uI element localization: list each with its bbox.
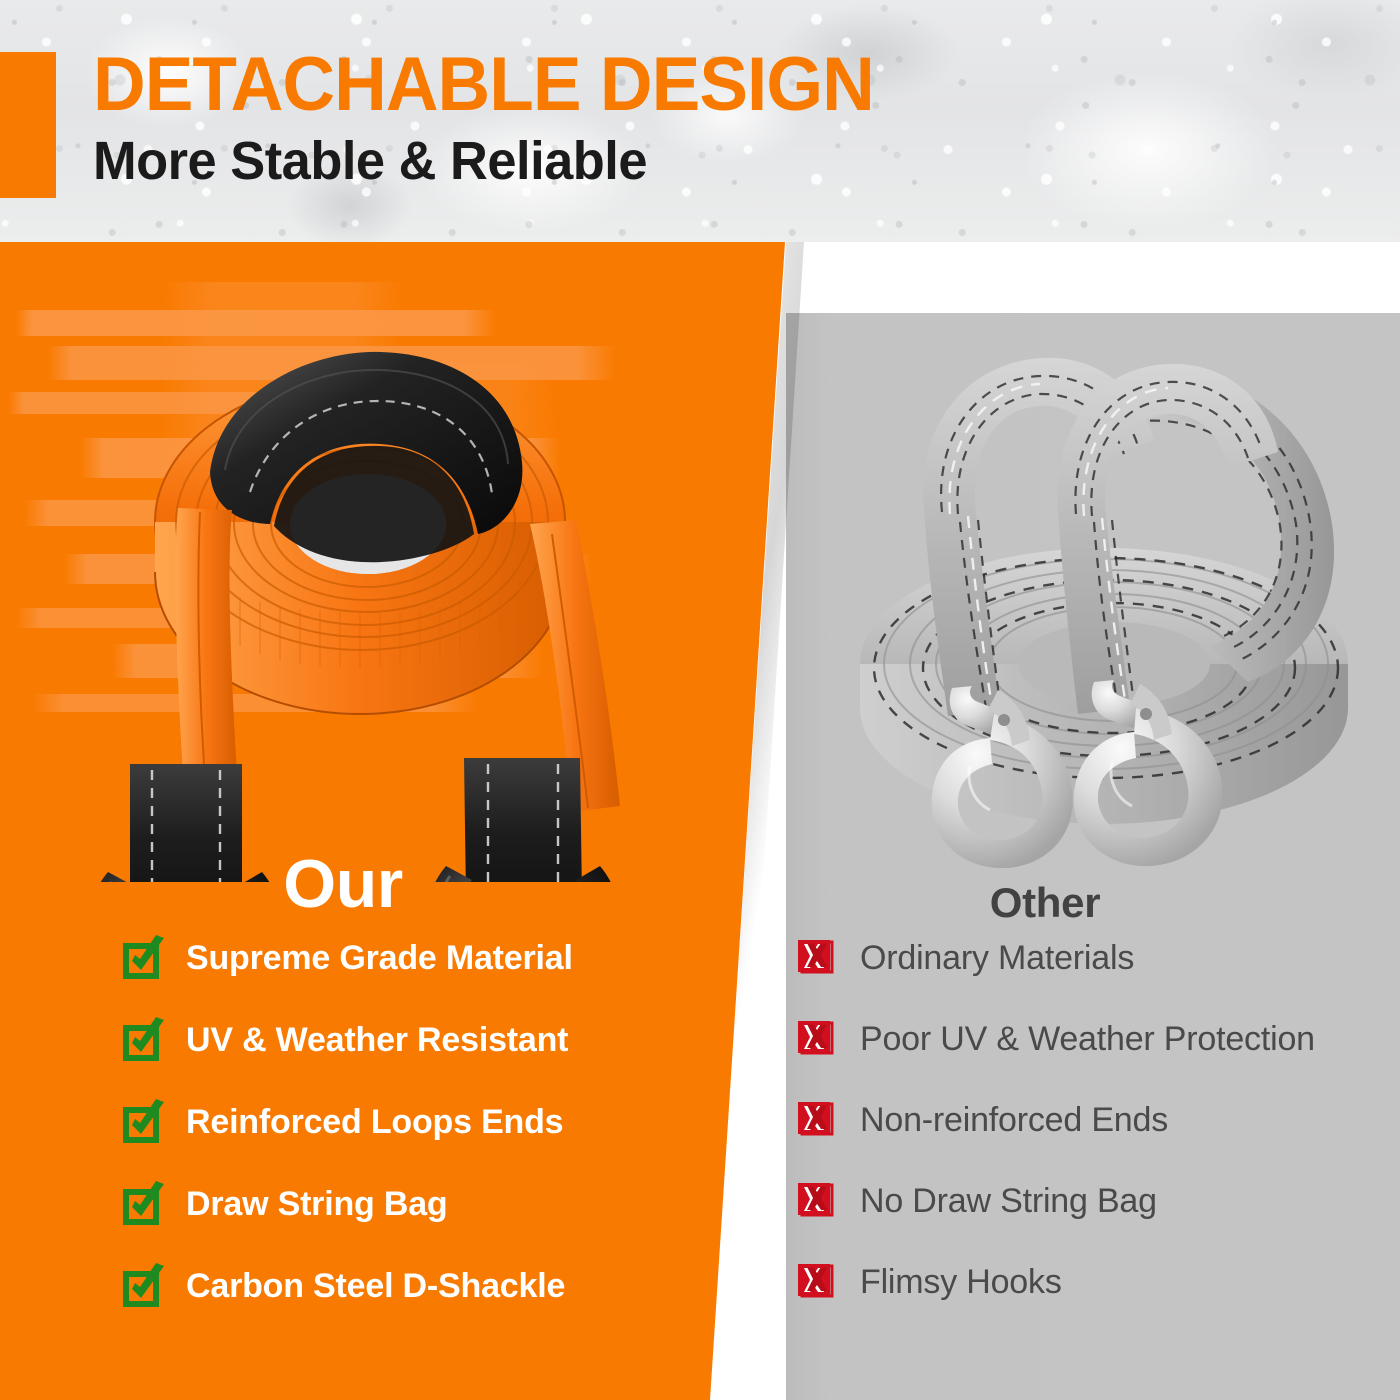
other-feature-list: Ordinary Materials Poor UV & Weather Pro… <box>796 938 1386 1343</box>
other-product-image <box>828 316 1380 868</box>
check-icon <box>124 940 160 976</box>
check-icon <box>124 1104 160 1140</box>
accent-bar <box>0 52 56 198</box>
list-item: No Draw String Bag <box>796 1181 1386 1221</box>
list-item-label: Poor UV & Weather Protection <box>860 1019 1315 1059</box>
list-item: Non-reinforced Ends <box>796 1100 1386 1140</box>
x-icon <box>796 1102 832 1138</box>
page-subtitle: More Stable & Reliable <box>93 130 882 192</box>
list-item: Draw String Bag <box>124 1184 684 1224</box>
list-item-label: Supreme Grade Material <box>186 938 573 978</box>
check-icon <box>124 1022 160 1058</box>
list-item: Ordinary Materials <box>796 938 1386 978</box>
list-item: Carbon Steel D-Shackle <box>124 1266 684 1306</box>
title-block: DETACHABLE DESIGN More Stable & Reliable <box>93 44 906 192</box>
infographic-canvas: DETACHABLE DESIGN More Stable & Reliable <box>0 0 1400 1400</box>
list-item-label: Flimsy Hooks <box>860 1262 1062 1302</box>
list-item-label: UV & Weather Resistant <box>186 1020 568 1060</box>
list-item: UV & Weather Resistant <box>124 1020 684 1060</box>
other-heading: Other <box>905 880 1185 926</box>
x-icon <box>796 1264 832 1300</box>
list-item-label: Carbon Steel D-Shackle <box>186 1266 565 1306</box>
our-feature-list: Supreme Grade Material UV & Weather Resi… <box>124 938 684 1348</box>
list-item-label: Reinforced Loops Ends <box>186 1102 563 1142</box>
x-icon <box>796 1183 832 1219</box>
our-heading: Our <box>178 848 508 920</box>
list-item-label: Draw String Bag <box>186 1184 447 1224</box>
list-item-label: Ordinary Materials <box>860 938 1134 978</box>
list-item-label: Non-reinforced Ends <box>860 1100 1168 1140</box>
x-icon <box>796 1021 832 1057</box>
header-banner: DETACHABLE DESIGN More Stable & Reliable <box>0 0 1400 242</box>
check-icon <box>124 1268 160 1304</box>
list-item: Supreme Grade Material <box>124 938 684 978</box>
list-item: Poor UV & Weather Protection <box>796 1019 1386 1059</box>
x-icon <box>796 940 832 976</box>
list-item-label: No Draw String Bag <box>860 1181 1157 1221</box>
our-product-image <box>60 272 660 882</box>
page-title: DETACHABLE DESIGN <box>93 44 874 126</box>
check-icon <box>124 1186 160 1222</box>
list-item: Flimsy Hooks <box>796 1262 1386 1302</box>
list-item: Reinforced Loops Ends <box>124 1102 684 1142</box>
